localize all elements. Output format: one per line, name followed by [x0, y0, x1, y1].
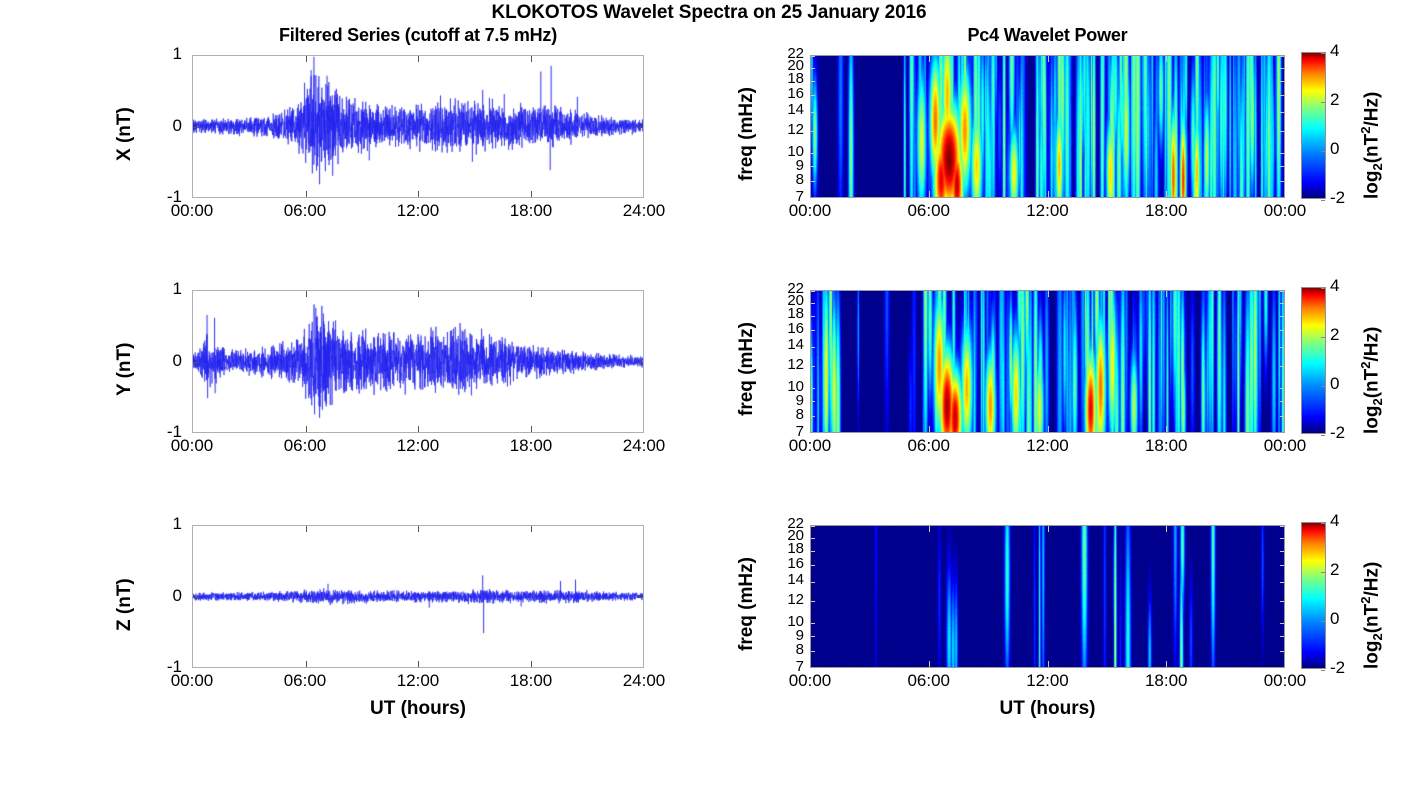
series-xtick: [418, 661, 419, 667]
colorbar-tick-label: 2: [1330, 560, 1339, 580]
colorbar-tick-label: 0: [1330, 139, 1339, 159]
spec-freq-tick-label: 9: [774, 159, 804, 173]
spec-ytick: [811, 526, 815, 527]
spec-yaxis-title-x: freq (mHz): [736, 87, 758, 181]
spec-ytick: [811, 636, 815, 637]
spec-freq-tick-label: 8: [774, 173, 804, 187]
figure-root: KLOKOTOS Wavelet Spectra on 25 January 2…: [0, 0, 1418, 788]
spec-ytick: [811, 197, 815, 198]
spec-ytick: [811, 582, 815, 583]
colorbar-tick-label: 4: [1330, 511, 1339, 531]
spec-freq-tick-label: 14: [774, 573, 804, 587]
spec-ytick-right: [1280, 131, 1284, 132]
spec-ytick-right: [1280, 526, 1284, 527]
series-xtick-label: 00:00: [147, 671, 237, 691]
spec-xtick-label: 00:00: [1240, 201, 1330, 221]
series-trace-canvas: [193, 291, 643, 432]
series-xtick-top: [418, 526, 419, 532]
series-trace-canvas: [193, 526, 643, 667]
spec-freq-tick-label: 14: [774, 338, 804, 352]
spec-ytick: [811, 366, 815, 367]
spec-xtick: [1166, 191, 1167, 197]
spec-xtick-label: 12:00: [1003, 436, 1093, 456]
series-xtick-label: 24:00: [599, 671, 689, 691]
colorbar-tick-label: 4: [1330, 276, 1339, 296]
spec-ytick: [811, 401, 815, 402]
spec-freq-tick-label: 10: [774, 615, 804, 629]
colorbar-x: [1301, 52, 1326, 199]
spec-xtick-top: [1048, 526, 1049, 532]
spec-ytick-right: [1280, 81, 1284, 82]
colorbar-tick-label: 2: [1330, 90, 1339, 110]
spec-ytick-right: [1280, 388, 1284, 389]
spec-xtick-top: [929, 526, 930, 532]
spec-ytick-right: [1280, 651, 1284, 652]
spec-freq-tick-label: 16: [774, 322, 804, 336]
colorbar-tick-mark: [1321, 151, 1325, 152]
series-ytick-right: [637, 127, 643, 128]
series-xtick-top: [531, 56, 532, 62]
spec-ytick-right: [1280, 56, 1284, 57]
spec-freq-tick-label: 9: [774, 394, 804, 408]
spec-freq-tick-label: 22: [774, 47, 804, 61]
spec-xtick-label: 12:00: [1003, 201, 1093, 221]
series-xtick: [418, 426, 419, 432]
spec-ytick-right: [1280, 623, 1284, 624]
spec-ytick: [811, 432, 815, 433]
spec-freq-tick-label: 10: [774, 145, 804, 159]
colorbar-tick-mark: [1321, 288, 1325, 289]
spec-ytick: [811, 651, 815, 652]
left-column-title: Filtered Series (cutoff at 7.5 mHz): [192, 25, 644, 46]
spec-ytick-right: [1280, 347, 1284, 348]
colorbar-y: [1301, 287, 1326, 434]
spec-ytick: [811, 330, 815, 331]
spec-ytick-right: [1280, 636, 1284, 637]
series-yaxis-title-y: Y (nT): [114, 342, 136, 395]
spectrogram-axes-z: [810, 525, 1285, 668]
spec-xtick-top: [929, 56, 930, 62]
series-xtick: [306, 191, 307, 197]
series-xtick: [418, 191, 419, 197]
wavelet-power-canvas: [811, 526, 1284, 667]
colorbar-tick-label: 2: [1330, 325, 1339, 345]
series-xtick-top: [418, 291, 419, 297]
spec-ytick-right: [1280, 416, 1284, 417]
spec-freq-tick-label: 22: [774, 517, 804, 531]
series-xaxis-title: UT (hours): [192, 698, 644, 720]
colorbar-tick-mark: [1321, 435, 1325, 436]
spec-ytick-right: [1280, 197, 1284, 198]
series-yaxis-title-x: X (nT): [114, 107, 136, 161]
spec-ytick-right: [1280, 432, 1284, 433]
colorbar-tick-mark: [1321, 102, 1325, 103]
spec-xtick-top: [1166, 56, 1167, 62]
spec-ytick: [811, 565, 815, 566]
series-trace-canvas: [193, 56, 643, 197]
colorbar-tick-label: 4: [1330, 41, 1339, 61]
spec-ytick: [811, 623, 815, 624]
colorbar-tick-mark: [1321, 572, 1325, 573]
colorbar-label-z: log2(nT2/Hz): [1358, 561, 1385, 668]
spec-xtick-label: 00:00: [765, 671, 855, 691]
colorbar-tick-label: -2: [1330, 188, 1345, 208]
spec-ytick: [811, 601, 815, 602]
spec-ytick-right: [1280, 153, 1284, 154]
spec-freq-tick-label: 8: [774, 408, 804, 422]
colorbar-z: [1301, 522, 1326, 669]
spec-ytick: [811, 316, 815, 317]
spec-ytick: [811, 68, 815, 69]
colorbar-label-y: log2(nT2/Hz): [1358, 326, 1385, 433]
spec-xtick-label: 18:00: [1121, 671, 1211, 691]
page-title: KLOKOTOS Wavelet Spectra on 25 January 2…: [0, 2, 1418, 24]
spec-ytick: [811, 347, 815, 348]
colorbar-tick-mark: [1321, 53, 1325, 54]
colorbar-tick-mark: [1321, 523, 1325, 524]
series-xtick-label: 12:00: [373, 671, 463, 691]
spec-ytick-right: [1280, 538, 1284, 539]
spec-freq-tick-label: 16: [774, 557, 804, 571]
series-ytick-label: 0: [142, 586, 182, 606]
right-column-title: Pc4 Wavelet Power: [810, 25, 1285, 46]
spec-ytick: [811, 81, 815, 82]
spec-xtick: [1048, 426, 1049, 432]
colorbar-tick-mark: [1321, 621, 1325, 622]
spec-ytick: [811, 416, 815, 417]
spec-xtick-label: 06:00: [884, 671, 974, 691]
spec-freq-tick-label: 16: [774, 87, 804, 101]
spec-freq-tick-label: 18: [774, 307, 804, 321]
spec-xtick-top: [1166, 291, 1167, 297]
spec-ytick-right: [1280, 316, 1284, 317]
series-xtick-top: [306, 526, 307, 532]
spec-ytick-right: [1280, 667, 1284, 668]
spec-xtick-top: [1048, 291, 1049, 297]
series-axes-y: [192, 290, 644, 433]
spec-yaxis-title-z: freq (mHz): [736, 557, 758, 651]
series-ytick-label: 1: [142, 44, 182, 64]
spec-xtick: [1048, 661, 1049, 667]
colorbar-tick-label: -2: [1330, 423, 1345, 443]
series-xtick-label: 00:00: [147, 436, 237, 456]
spec-ytick-right: [1280, 291, 1284, 292]
spec-ytick-right: [1280, 181, 1284, 182]
series-ytick: [193, 362, 199, 363]
spec-ytick: [811, 303, 815, 304]
spec-freq-tick-label: 18: [774, 542, 804, 556]
spec-xtick-top: [929, 291, 930, 297]
spec-xtick-label: 00:00: [765, 436, 855, 456]
series-xtick-top: [531, 526, 532, 532]
wavelet-power-canvas: [811, 291, 1284, 432]
series-xtick-label: 24:00: [599, 201, 689, 221]
spec-xtick-label: 06:00: [884, 436, 974, 456]
series-ytick-right: [637, 597, 643, 598]
series-xtick: [306, 661, 307, 667]
spec-xtick: [929, 191, 930, 197]
spec-xtick-label: 12:00: [1003, 671, 1093, 691]
spec-ytick-right: [1280, 551, 1284, 552]
spec-xtick-label: 18:00: [1121, 436, 1211, 456]
series-xtick-label: 18:00: [486, 201, 576, 221]
spec-ytick-right: [1280, 366, 1284, 367]
spec-ytick: [811, 131, 815, 132]
spec-ytick-right: [1280, 582, 1284, 583]
spec-xtick-top: [1166, 526, 1167, 532]
colorbar-label-x: log2(nT2/Hz): [1358, 91, 1385, 198]
colorbar-tick-mark: [1321, 670, 1325, 671]
series-ytick-label: 1: [142, 514, 182, 534]
series-xtick-top: [306, 291, 307, 297]
series-axes-x: [192, 55, 644, 198]
spectrogram-axes-y: [810, 290, 1285, 433]
spec-ytick: [811, 181, 815, 182]
spec-freq-tick-label: 12: [774, 593, 804, 607]
spec-ytick-right: [1280, 330, 1284, 331]
spec-xtick-label: 00:00: [1240, 436, 1330, 456]
wavelet-power-canvas: [811, 56, 1284, 197]
series-yaxis-title-z: Z (nT): [114, 578, 136, 631]
spectrogram-axes-x: [810, 55, 1285, 198]
series-xtick-top: [531, 291, 532, 297]
spec-ytick: [811, 112, 815, 113]
spec-ytick: [811, 667, 815, 668]
spec-ytick: [811, 538, 815, 539]
spec-freq-tick-label: 8: [774, 643, 804, 657]
spec-xtick: [1166, 661, 1167, 667]
spec-ytick: [811, 388, 815, 389]
spec-ytick-right: [1280, 565, 1284, 566]
series-xtick-label: 18:00: [486, 671, 576, 691]
series-xtick: [306, 426, 307, 432]
series-ytick-label: 1: [142, 279, 182, 299]
series-ytick: [193, 127, 199, 128]
series-xtick-label: 24:00: [599, 436, 689, 456]
colorbar-tick-label: 0: [1330, 609, 1339, 629]
spec-ytick-right: [1280, 401, 1284, 402]
series-xtick-label: 18:00: [486, 436, 576, 456]
spec-ytick: [811, 291, 815, 292]
spec-xtick-top: [1048, 56, 1049, 62]
spec-xtick: [1048, 191, 1049, 197]
spec-freq-tick-label: 22: [774, 282, 804, 296]
spec-xtick: [929, 661, 930, 667]
spec-freq-tick-label: 12: [774, 123, 804, 137]
colorbar-tick-mark: [1321, 386, 1325, 387]
series-xtick-label: 12:00: [373, 201, 463, 221]
spec-xtick: [929, 426, 930, 432]
spec-ytick: [811, 166, 815, 167]
series-xtick-label: 06:00: [260, 436, 350, 456]
spec-yaxis-title-y: freq (mHz): [736, 322, 758, 416]
series-xtick: [531, 661, 532, 667]
series-xtick-top: [306, 56, 307, 62]
series-xtick-label: 06:00: [260, 201, 350, 221]
series-ytick: [193, 597, 199, 598]
spec-freq-tick-label: 12: [774, 358, 804, 372]
spec-xtick-label: 00:00: [1240, 671, 1330, 691]
series-ytick-label: 0: [142, 351, 182, 371]
series-xtick-top: [418, 56, 419, 62]
spec-ytick: [811, 95, 815, 96]
spec-ytick-right: [1280, 112, 1284, 113]
series-xtick-label: 00:00: [147, 201, 237, 221]
spec-ytick: [811, 56, 815, 57]
spec-freq-tick-label: 10: [774, 380, 804, 394]
series-xtick-label: 06:00: [260, 671, 350, 691]
spec-ytick-right: [1280, 601, 1284, 602]
series-axes-z: [192, 525, 644, 668]
series-xtick: [531, 426, 532, 432]
colorbar-tick-mark: [1321, 200, 1325, 201]
series-xtick-label: 12:00: [373, 436, 463, 456]
spec-xtick: [1166, 426, 1167, 432]
spec-freq-tick-label: 9: [774, 629, 804, 643]
spec-ytick: [811, 153, 815, 154]
colorbar-tick-label: -2: [1330, 658, 1345, 678]
spec-xtick-label: 00:00: [765, 201, 855, 221]
spec-freq-tick-label: 14: [774, 103, 804, 117]
spec-ytick-right: [1280, 303, 1284, 304]
spec-xaxis-title: UT (hours): [810, 698, 1285, 720]
spec-ytick-right: [1280, 68, 1284, 69]
spec-ytick-right: [1280, 166, 1284, 167]
series-ytick-right: [637, 362, 643, 363]
colorbar-tick-mark: [1321, 337, 1325, 338]
spec-freq-tick-label: 18: [774, 72, 804, 86]
spec-xtick-label: 06:00: [884, 201, 974, 221]
colorbar-tick-label: 0: [1330, 374, 1339, 394]
series-ytick-label: 0: [142, 116, 182, 136]
spec-xtick-label: 18:00: [1121, 201, 1211, 221]
spec-ytick: [811, 551, 815, 552]
spec-ytick-right: [1280, 95, 1284, 96]
series-xtick: [531, 191, 532, 197]
